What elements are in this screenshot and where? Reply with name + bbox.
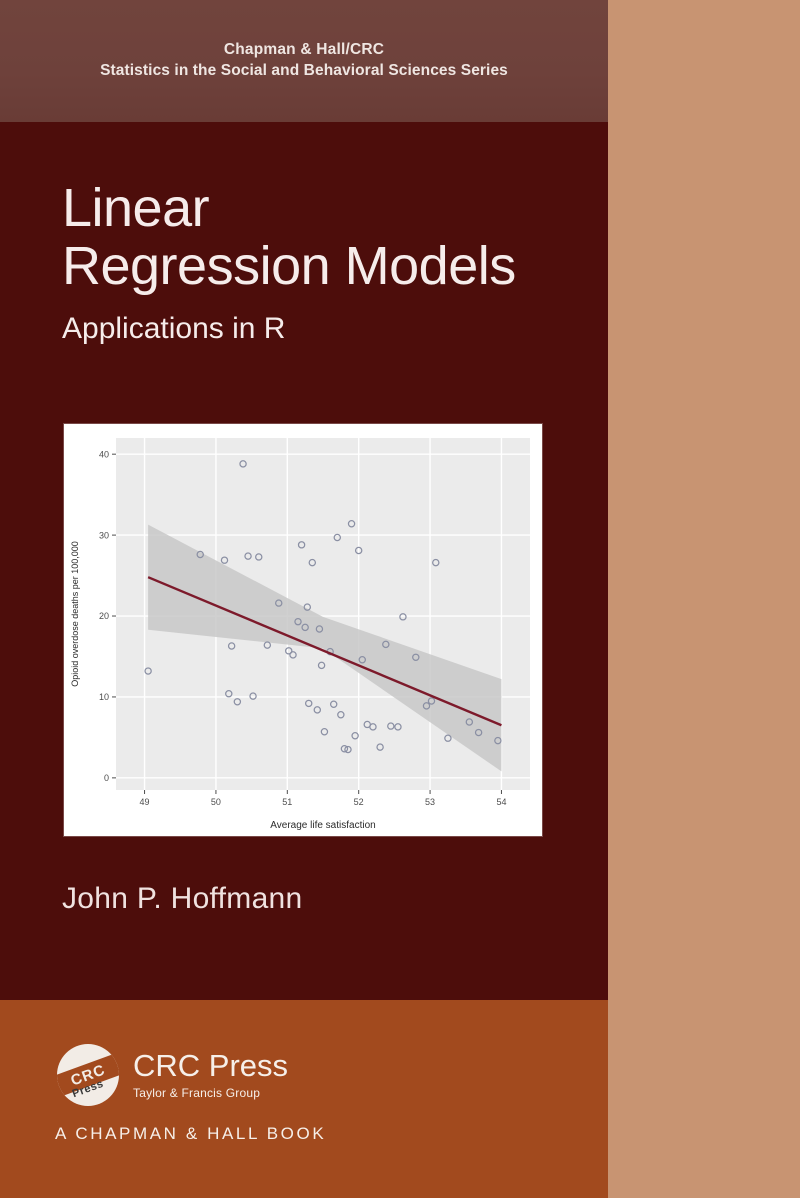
title-block: Linear Regression Models Applications in… [62,180,592,346]
x-tick-label: 50 [211,797,221,807]
crc-press-logo: Press CRC CRC Press Taylor & Francis Gro… [57,1044,288,1106]
crc-press-text-block: CRC Press Taylor & Francis Group [133,1050,288,1100]
x-tick-label: 54 [496,797,506,807]
series-publisher-line: Chapman & Hall/CRC [224,40,384,61]
book-title-line-1: Linear [62,180,592,238]
crc-roundel-crc-text: CRC [57,1044,119,1106]
y-tick-label: 0 [104,773,109,783]
series-name-line: Statistics in the Social and Behavioral … [100,61,508,82]
book-title-line-2: Regression Models [62,238,592,296]
book-cover: Chapman & Hall/CRC Statistics in the Soc… [0,0,608,1198]
cover-chart: 495051525354010203040Average life satisf… [64,424,542,836]
scatter-plot-svg: 495051525354010203040Average life satisf… [64,424,542,836]
series-band: Chapman & Hall/CRC Statistics in the Soc… [0,0,608,122]
publisher-group: Taylor & Francis Group [133,1086,288,1100]
x-tick-label: 53 [425,797,435,807]
x-tick-label: 51 [282,797,292,807]
publisher-name: CRC Press [133,1050,288,1081]
imprint-line: A CHAPMAN & HALL BOOK [55,1124,326,1144]
y-tick-label: 20 [99,611,109,621]
book-subtitle: Applications in R [62,312,592,346]
y-tick-label: 30 [99,530,109,540]
crc-roundel-icon: Press CRC [57,1044,119,1106]
x-tick-label: 52 [354,797,364,807]
author-name: John P. Hoffmann [62,882,303,916]
x-axis-label: Average life satisfaction [270,820,375,831]
x-tick-label: 49 [140,797,150,807]
y-tick-label: 40 [99,449,109,459]
publisher-band: Press CRC CRC Press Taylor & Francis Gro… [0,1000,608,1198]
y-axis-label: Opioid overdose deaths per 100,000 [70,541,80,687]
y-tick-label: 10 [99,692,109,702]
cover-main-area: Linear Regression Models Applications in… [0,122,608,1000]
chart-plot-area: 495051525354010203040Average life satisf… [64,424,542,836]
